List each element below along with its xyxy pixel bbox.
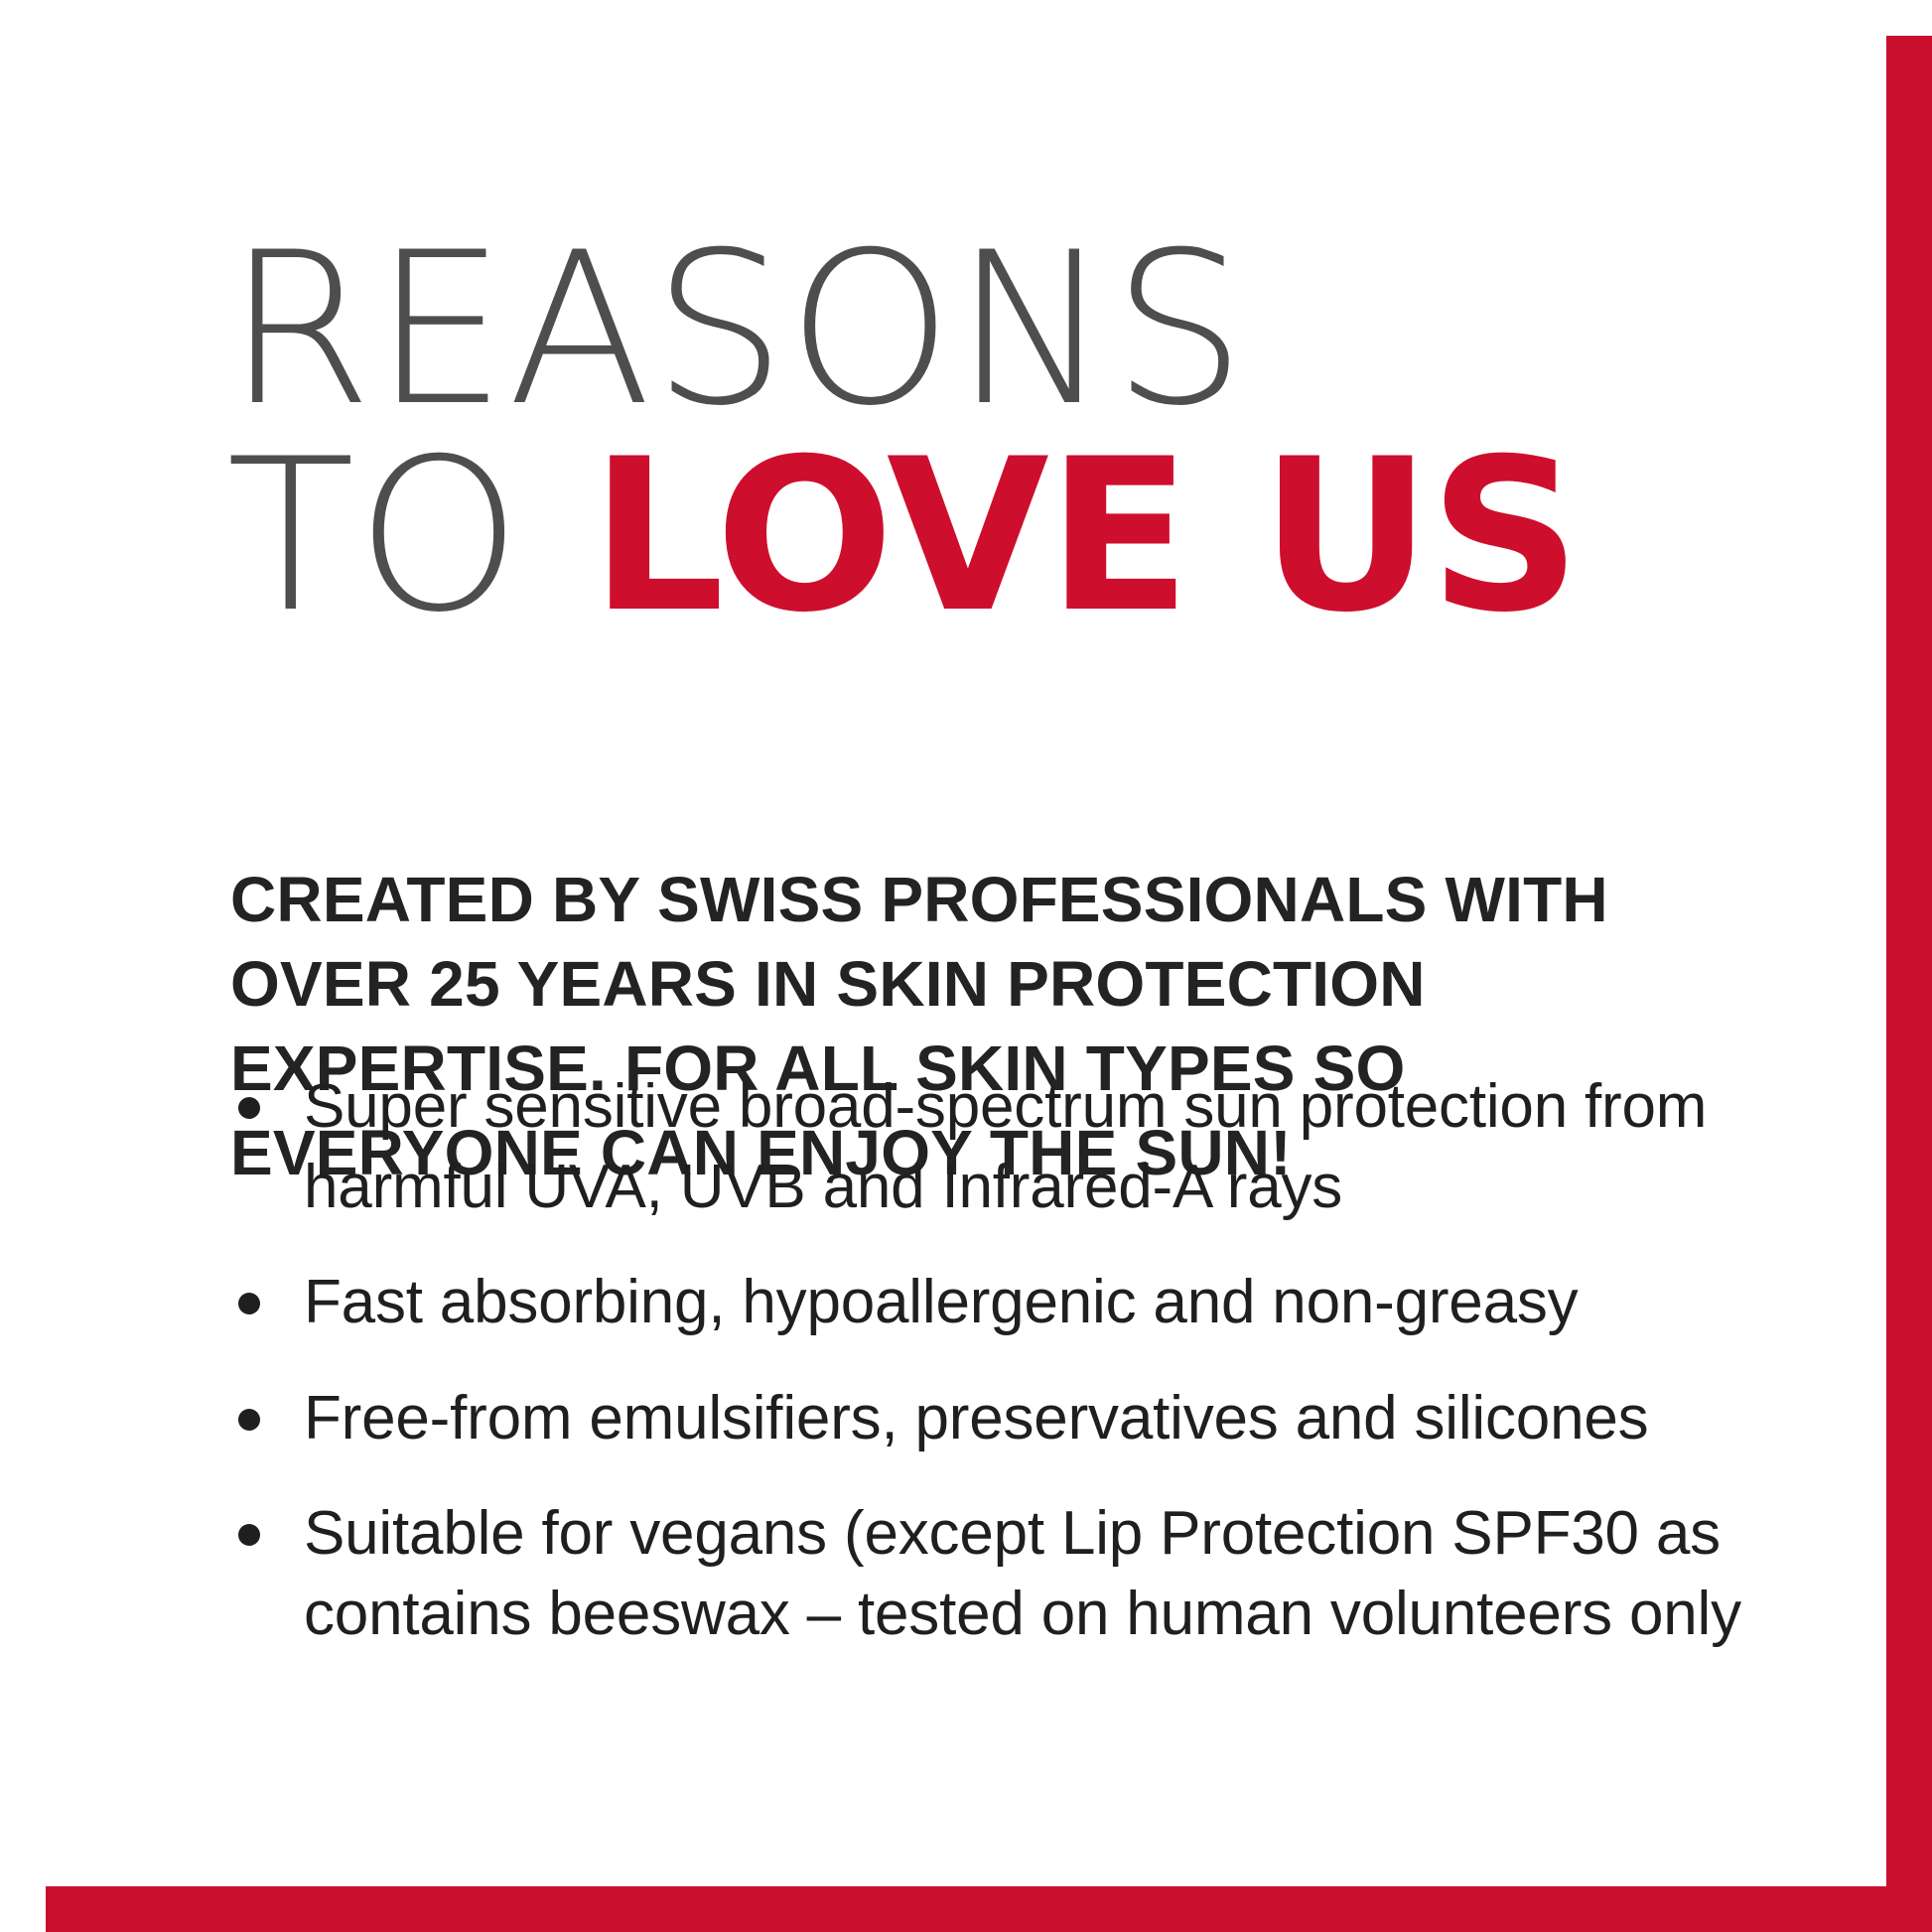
list-item-label: Fast absorbing, hypoallergenic and non-g… [304, 1268, 1578, 1336]
headline-line-1: REASONS [226, 226, 1636, 433]
benefits-list: Super sensitive broad-spectrum sun prote… [226, 1067, 1775, 1655]
list-item-label: Super sensitive broad-spectrum sun prote… [304, 1072, 1707, 1221]
bullet-dot-icon [238, 1097, 260, 1119]
headline-line-2: TO LOVE US [226, 433, 1636, 639]
bullet-dot-icon [238, 1293, 260, 1314]
accent-rule-right [1886, 36, 1932, 1932]
marketing-panel: REASONS TO LOVE US CREATED BY SWISS PROF… [0, 0, 1932, 1932]
bullet-dot-icon [238, 1409, 260, 1431]
bullet-dot-icon [238, 1524, 260, 1546]
list-item: Fast absorbing, hypoallergenic and non-g… [226, 1263, 1775, 1343]
accent-rule-bottom [46, 1886, 1932, 1932]
list-item-label: Suitable for vegans (except Lip Protecti… [304, 1499, 1741, 1648]
list-item: Free-from emulsifiers, preservatives and… [226, 1379, 1775, 1459]
list-item: Suitable for vegans (except Lip Protecti… [226, 1494, 1775, 1654]
list-item: Super sensitive broad-spectrum sun prote… [226, 1067, 1775, 1227]
list-item-label: Free-from emulsifiers, preservatives and… [304, 1384, 1648, 1452]
headline-line-2-accent: LOVE US [591, 413, 1580, 658]
headline-line-2-prefix: TO [226, 413, 591, 658]
page-title: REASONS TO LOVE US [226, 226, 1636, 639]
